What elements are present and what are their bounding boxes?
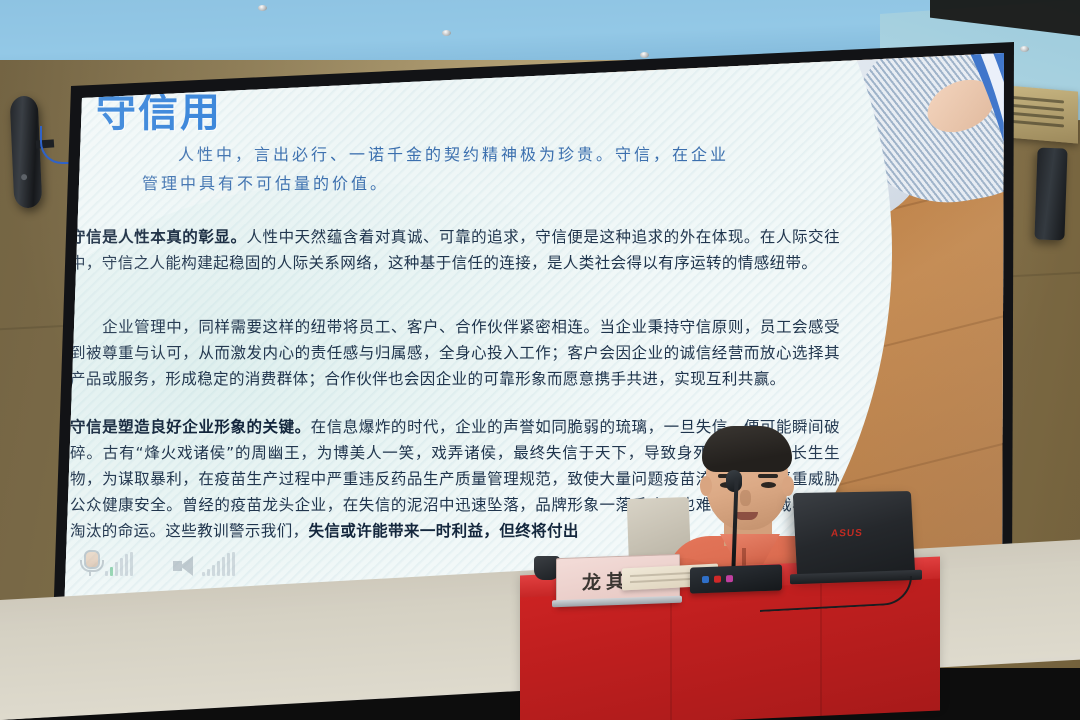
- ceiling-light-dot: [640, 52, 649, 58]
- paragraph-2-text: 企业管理中，同样需要这样的纽带将员工、客户、合作伙伴紧密相连。当企业秉持守信原则…: [70, 318, 840, 388]
- presenter-hair: [702, 426, 792, 472]
- slide-paragraph-1: 守信是人性本真的彰显。人性中天然蕴含着对真诚、可靠的追求，守信便是这种追求的外在…: [70, 224, 840, 276]
- speaker-level-bars: [202, 552, 235, 576]
- presenter-ear: [700, 476, 712, 496]
- speaker-icon: [173, 556, 197, 576]
- mic-level-bars: [105, 552, 133, 576]
- microphone-icon: [80, 550, 100, 576]
- presenter-brow: [758, 474, 778, 478]
- wall-speaker-left-icon: [10, 95, 43, 208]
- presenter-eye: [761, 482, 776, 488]
- presenter-nose: [740, 490, 751, 506]
- slide-subtitle: 人性中，言出必行、一诺千金的契约精神极为珍贵。守信，在企业管理中具有不可估量的价…: [142, 140, 742, 198]
- ceiling-light-dot: [442, 30, 451, 36]
- laptop-brand-logo: ASUS: [830, 528, 863, 540]
- conference-room-scene: 守信用 人性中，言出必行、一诺千金的契约精神极为珍贵。守信，在企业管理中具有不可…: [0, 0, 1080, 720]
- presenter-ear: [782, 476, 794, 496]
- ceiling-light-dot: [258, 5, 267, 11]
- wall-speaker-right-icon: [1034, 148, 1067, 241]
- slide-status-icons: [80, 550, 235, 576]
- ceiling-light-dot: [1020, 46, 1029, 52]
- paragraph-3-lead: 守信是塑造良好企业形象的关键。: [70, 418, 311, 436]
- paragraph-1-lead: 守信是人性本真的彰显。: [70, 228, 247, 246]
- slide-paragraph-2: 企业管理中，同样需要这样的纽带将员工、客户、合作伙伴紧密相连。当企业秉持守信原则…: [70, 314, 840, 392]
- paragraph-3-tail: 失信或许能带来一时利益，但终将付出: [309, 522, 579, 540]
- presenter-laptop[interactable]: ASUS: [793, 491, 915, 577]
